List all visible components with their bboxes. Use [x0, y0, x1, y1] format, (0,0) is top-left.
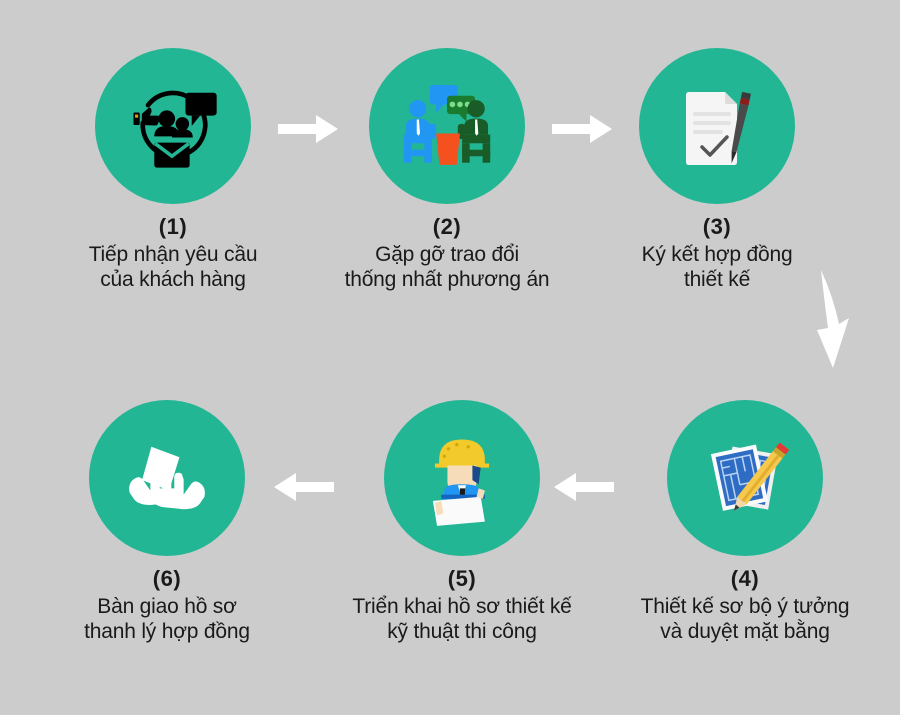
step-1-icon-circle	[95, 48, 251, 204]
step-4-icon-circle	[667, 400, 823, 556]
step-6-number: (6)	[153, 568, 181, 590]
step-5-number: (5)	[448, 568, 476, 590]
step-1-label: Tiếp nhận yêu cầu của khách hàng	[89, 243, 258, 293]
step-2-icon-circle	[369, 48, 525, 204]
arrow-right-step1-to-step2	[278, 112, 340, 151]
step-3-icon-circle	[639, 48, 795, 204]
meeting-discussion-icon	[393, 72, 501, 180]
step-2-label: Gặp gỡ trao đổi thống nhất phương án	[345, 243, 550, 293]
customer-request-icon	[121, 74, 225, 178]
process-step-4[interactable]: (4) Thiết kế sơ bộ ý tưởng và duyệt mặt …	[600, 400, 890, 645]
step-3-label: Ký kết hợp đồng thiết kế	[642, 243, 793, 293]
blueprint-pencil-icon	[695, 428, 795, 528]
handover-document-icon	[115, 426, 219, 530]
arrow-left-step4-to-step5	[552, 470, 614, 509]
step-5-icon-circle	[384, 400, 540, 556]
step-2-number: (2)	[433, 216, 461, 238]
engineer-drawing-icon	[410, 426, 514, 530]
arrow-right-step2-to-step3	[552, 112, 614, 151]
process-flow-diagram: (1) Tiếp nhận yêu cầu của khách hàng	[0, 0, 900, 715]
arrow-left-step5-to-step6	[272, 470, 334, 509]
contract-signing-icon	[667, 76, 767, 176]
step-5-label: Triển khai hồ sơ thiết kế kỹ thuật thi c…	[352, 595, 571, 645]
step-4-label: Thiết kế sơ bộ ý tưởng và duyệt mặt bằng	[641, 595, 850, 645]
step-1-number: (1)	[159, 216, 187, 238]
arrow-curved-down-step3-to-step4	[805, 268, 863, 378]
process-step-5[interactable]: (5) Triển khai hồ sơ thiết kế kỹ thuật t…	[317, 400, 607, 645]
step-4-number: (4)	[731, 568, 759, 590]
process-step-3[interactable]: (3) Ký kết hợp đồng thiết kế	[572, 48, 862, 293]
step-6-icon-circle	[89, 400, 245, 556]
step-6-label: Bàn giao hồ sơ thanh lý hợp đồng	[84, 595, 250, 645]
process-step-6[interactable]: (6) Bàn giao hồ sơ thanh lý hợp đồng	[22, 400, 312, 645]
process-step-1[interactable]: (1) Tiếp nhận yêu cầu của khách hàng	[28, 48, 318, 293]
process-step-2[interactable]: (2) Gặp gỡ trao đổi thống nhất phương án	[302, 48, 592, 293]
step-3-number: (3)	[703, 216, 731, 238]
